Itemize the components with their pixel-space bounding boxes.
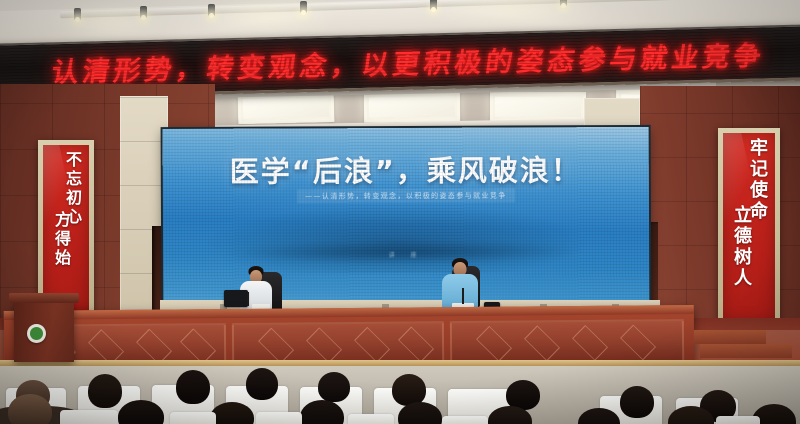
stage-steps xyxy=(694,330,766,344)
projection-screen: 医学“后浪”，乘风破浪！ ——认清形势，转变观念，以积极的姿态参与就业竞争 讲 … xyxy=(163,127,650,315)
right-vertical-banner: 牢记使命 立德树人 xyxy=(718,128,780,328)
auditorium-photo: 认清形势，转变观念，以更积极的姿态参与就业竞争 不忘初心 方得始 牢记使命 立德… xyxy=(0,0,800,424)
audience-head xyxy=(246,368,278,400)
left-vertical-banner: 不忘初心 方得始 xyxy=(38,140,94,318)
seat-cover xyxy=(170,412,216,424)
ceiling-coffer xyxy=(490,92,586,122)
audience-head xyxy=(8,394,52,424)
laptop-left xyxy=(224,290,248,307)
seat-cover xyxy=(256,412,302,424)
lectern-top xyxy=(9,293,79,303)
audience-head xyxy=(176,370,210,404)
table-panel xyxy=(450,319,684,365)
audience-area xyxy=(0,366,800,424)
microphone-right xyxy=(462,288,464,304)
seat-cover xyxy=(716,416,760,424)
light-glow xyxy=(48,8,168,34)
audience-head xyxy=(318,372,350,402)
ceiling-coffer xyxy=(364,91,460,122)
stage-steps xyxy=(700,344,792,358)
light-glow xyxy=(190,2,340,28)
lectern xyxy=(14,300,74,362)
audience-head xyxy=(620,386,654,418)
microphone-left xyxy=(247,292,249,306)
right-banner-line2: 立德树人 xyxy=(728,205,754,289)
screen-pixel-grid xyxy=(163,127,650,315)
seat-cover xyxy=(348,414,394,424)
left-banner-line2: 方得始 xyxy=(49,211,73,268)
school-emblem-icon xyxy=(27,324,46,343)
seat-cover xyxy=(442,416,488,424)
seat-cover xyxy=(60,410,118,424)
audience-head xyxy=(88,374,122,408)
